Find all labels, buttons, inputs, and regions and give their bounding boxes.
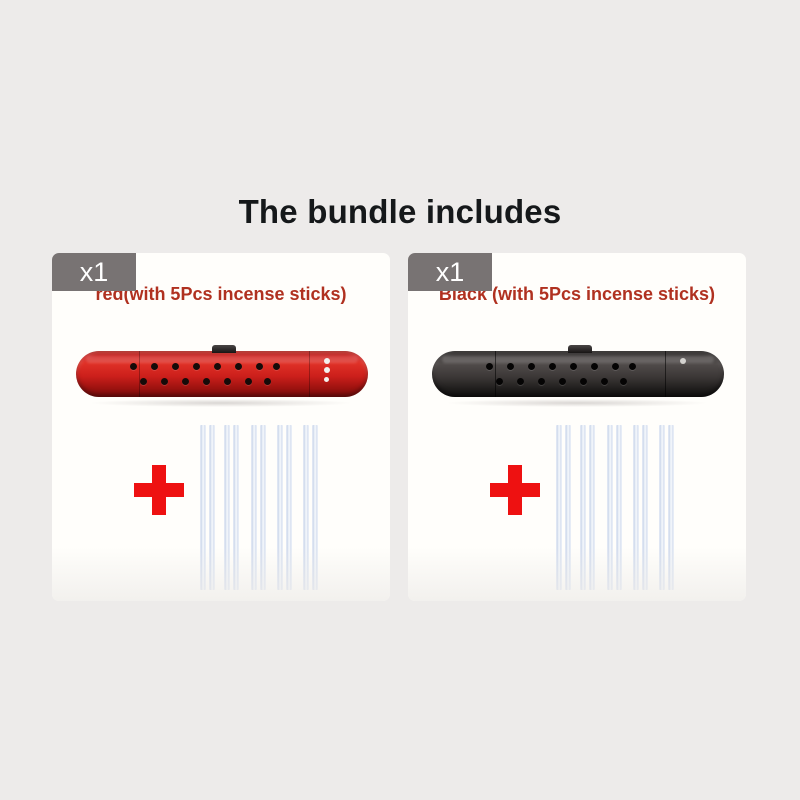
page-title: The bundle includes [0, 193, 800, 231]
led-indicators-red [324, 358, 332, 388]
device-perforations-red [130, 363, 280, 389]
device-image-red [52, 325, 390, 427]
plus-icon-red [134, 465, 184, 515]
device-image-black [408, 325, 746, 427]
bundle-item-card-red: red(with 5Pcs incense sticks) x1 [52, 253, 390, 601]
incense-sticks-black [553, 425, 683, 590]
incense-sticks-red [197, 425, 327, 590]
led-indicators-black [680, 358, 688, 388]
led-dot [680, 358, 686, 364]
device-gloss [86, 356, 358, 363]
quantity-badge-black: x1 [408, 253, 492, 291]
device-shadow [448, 399, 706, 407]
quantity-badge-red: x1 [52, 253, 136, 291]
device-seam [665, 351, 666, 397]
device-seam [309, 351, 310, 397]
led-dot [324, 358, 330, 364]
power-button-icon [568, 345, 592, 353]
power-button-icon [212, 345, 236, 353]
led-dot [324, 377, 329, 382]
plus-icon-black [490, 465, 540, 515]
product-bundle-infographic: The bundle includes red(with 5Pcs incens… [0, 0, 800, 800]
led-dot [324, 367, 330, 373]
device-gloss [442, 356, 714, 363]
bundle-item-card-black: Black (with 5Pcs incense sticks) x1 [408, 253, 746, 601]
device-shadow [92, 399, 350, 407]
device-perforations-black [486, 363, 636, 389]
